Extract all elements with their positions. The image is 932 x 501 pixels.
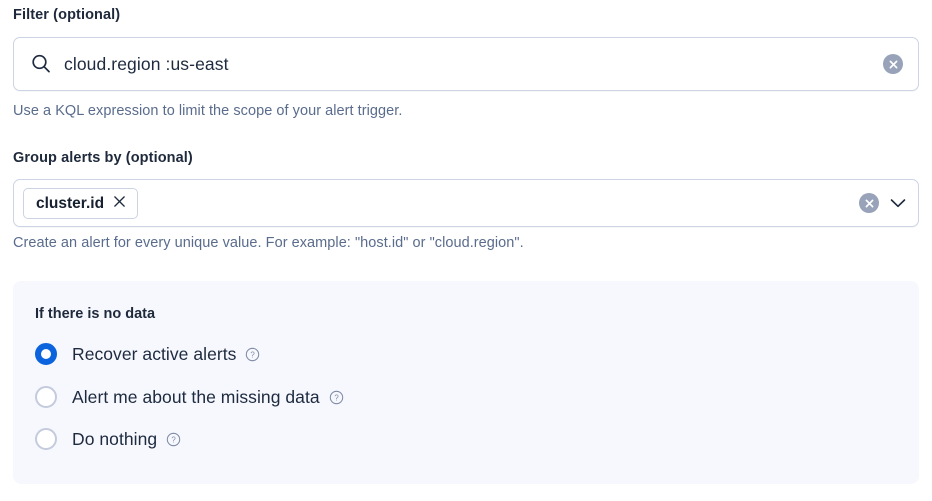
close-icon[interactable] (113, 195, 126, 213)
chevron-down-icon[interactable] (886, 192, 910, 214)
radio-indicator[interactable] (35, 343, 57, 365)
radio-option-recover-active-alerts[interactable]: Recover active alerts ? (35, 343, 260, 365)
svg-text:?: ? (334, 393, 339, 402)
group-by-combobox[interactable] (13, 179, 919, 227)
filter-help-text: Use a KQL expression to limit the scope … (13, 103, 402, 119)
alert-rule-form: Filter (optional) cloud.region :us-east … (0, 0, 932, 501)
group-by-field-label: Group alerts by (optional) (13, 150, 193, 166)
no-data-panel-title: If there is no data (35, 306, 155, 322)
group-by-clear-button[interactable] (859, 193, 879, 213)
radio-option-do-nothing[interactable]: Do nothing ? (35, 428, 181, 450)
radio-option-label: Recover active alerts (72, 343, 236, 365)
filter-input-value[interactable]: cloud.region :us-east (64, 52, 229, 76)
question-circle-icon[interactable]: ? (329, 390, 344, 405)
filter-field-label: Filter (optional) (13, 7, 120, 23)
radio-option-label: Do nothing (72, 428, 157, 450)
group-by-token-cluster-id[interactable]: cluster.id (23, 188, 138, 219)
group-by-help-text: Create an alert for every unique value. … (13, 235, 524, 251)
radio-indicator[interactable] (35, 386, 57, 408)
radio-indicator[interactable] (35, 428, 57, 450)
filter-clear-button[interactable] (883, 54, 903, 74)
svg-text:?: ? (251, 350, 256, 359)
search-icon (29, 52, 53, 76)
radio-option-label: Alert me about the missing data (72, 386, 320, 408)
radio-option-alert-me-about-missing-data[interactable]: Alert me about the missing data ? (35, 386, 344, 408)
group-by-token-label: cluster.id (36, 195, 104, 213)
question-circle-icon[interactable]: ? (166, 432, 181, 447)
svg-text:?: ? (171, 435, 176, 444)
question-circle-icon[interactable]: ? (245, 347, 260, 362)
